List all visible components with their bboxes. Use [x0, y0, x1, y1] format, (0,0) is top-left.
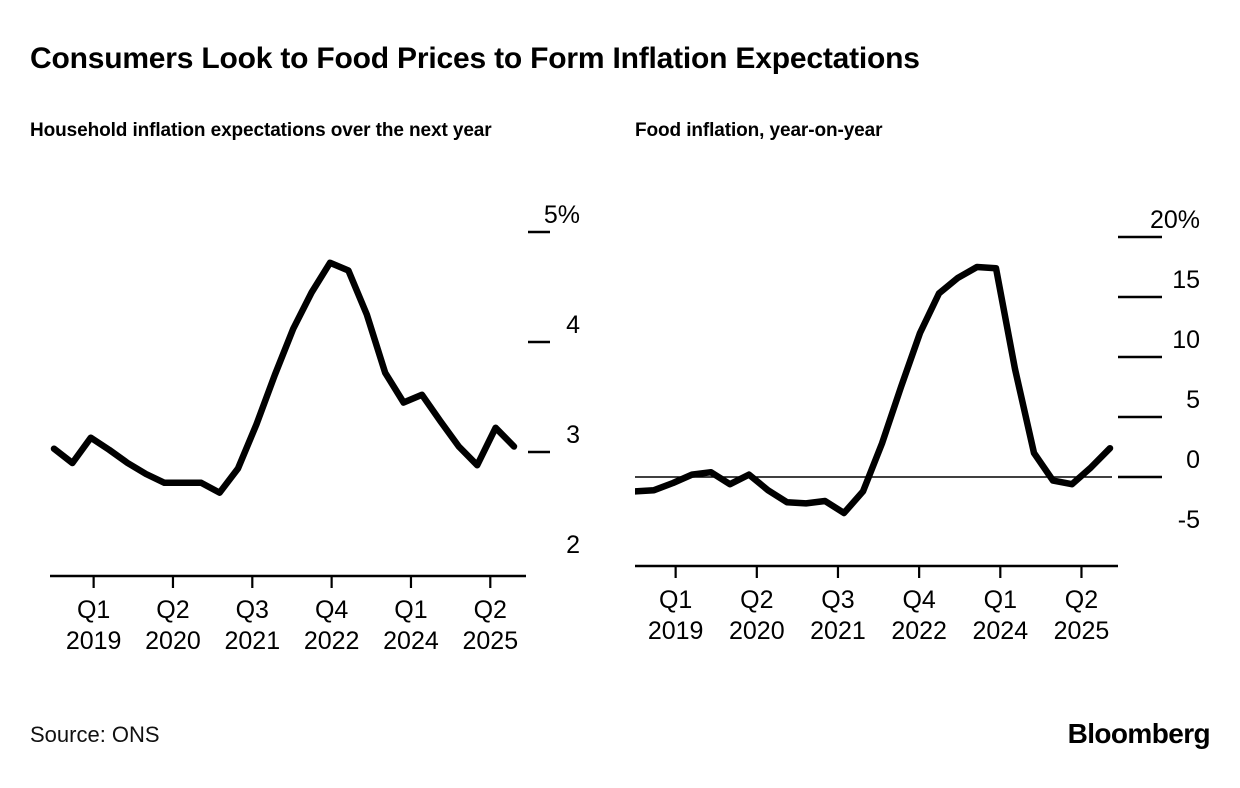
chart-svg: 2345%Q12019Q22020Q32021Q42022Q12024Q2202… [30, 118, 590, 678]
y-axis-label: 0 [1186, 446, 1200, 474]
x-axis-year-label: 2021 [224, 627, 280, 655]
x-axis-quarter-label: Q2 [740, 586, 773, 614]
x-tick-group: Q12024 [972, 566, 1028, 645]
chart-page: Consumers Look to Food Prices to Form In… [0, 0, 1240, 788]
x-axis-quarter-label: Q3 [821, 586, 854, 614]
chart-household-inflation-expectations: 2345%Q12019Q22020Q32021Q42022Q12024Q2202… [30, 118, 590, 678]
data-series-line [635, 267, 1110, 513]
x-tick-group: Q12019 [648, 566, 704, 645]
x-tick-group: Q22020 [729, 566, 785, 645]
x-axis-year-label: 2024 [972, 617, 1028, 645]
x-axis-quarter-label: Q2 [474, 596, 507, 624]
chart-svg: -505101520%Q12019Q22020Q32021Q42022Q1202… [635, 118, 1210, 678]
x-tick-group: Q32021 [810, 566, 866, 645]
y-tick-group: 3 [528, 421, 580, 452]
y-tick-group: 5 [1118, 386, 1200, 417]
x-axis-quarter-label: Q4 [315, 596, 348, 624]
data-series-line [54, 263, 514, 493]
x-tick-group: Q42022 [304, 576, 360, 655]
y-tick-group: 5% [528, 201, 580, 232]
y-tick-group: 4 [528, 311, 580, 342]
x-tick-group: Q32021 [224, 576, 280, 655]
x-axis-quarter-label: Q2 [156, 596, 189, 624]
panel-food-inflation: Food inflation, year-on-year -505101520%… [635, 118, 1210, 678]
x-tick-group: Q12024 [383, 576, 439, 655]
x-tick-group: Q22020 [145, 576, 201, 655]
bloomberg-logo: Bloomberg [1068, 718, 1210, 750]
y-tick-group: 20% [1118, 206, 1200, 237]
x-axis-year-label: 2019 [648, 617, 704, 645]
y-axis-label: 4 [566, 311, 580, 339]
x-tick-group: Q42022 [891, 566, 947, 645]
x-axis-quarter-label: Q1 [984, 586, 1017, 614]
x-axis-quarter-label: Q3 [236, 596, 269, 624]
page-title: Consumers Look to Food Prices to Form In… [30, 40, 1210, 78]
x-axis-quarter-label: Q1 [659, 586, 692, 614]
y-axis-label: 10 [1172, 326, 1200, 354]
x-tick-group: Q22025 [1054, 566, 1110, 645]
source-note: Source: ONS [30, 722, 160, 748]
y-axis-label: 15 [1172, 266, 1200, 294]
y-axis-label: 20% [1150, 206, 1200, 234]
y-tick-group: 10 [1118, 326, 1200, 357]
y-axis-label: 3 [566, 421, 580, 449]
x-axis-year-label: 2021 [810, 617, 866, 645]
x-axis-year-label: 2020 [145, 627, 201, 655]
y-tick-group: 15 [1118, 266, 1200, 297]
x-axis-quarter-label: Q2 [1065, 586, 1098, 614]
x-axis-year-label: 2025 [462, 627, 518, 655]
x-axis-quarter-label: Q1 [77, 596, 110, 624]
x-tick-group: Q22025 [462, 576, 518, 655]
x-axis-year-label: 2025 [1054, 617, 1110, 645]
y-axis-label: 5% [544, 201, 580, 229]
x-axis-year-label: 2022 [891, 617, 947, 645]
x-tick-group: Q12019 [66, 576, 122, 655]
y-tick-group: 0 [1118, 446, 1200, 477]
x-axis-year-label: 2022 [304, 627, 360, 655]
x-axis-quarter-label: Q4 [902, 586, 935, 614]
x-axis-year-label: 2024 [383, 627, 439, 655]
x-axis-quarter-label: Q1 [394, 596, 427, 624]
x-axis-year-label: 2019 [66, 627, 122, 655]
y-axis-label: 5 [1186, 386, 1200, 414]
y-tick-group: -5 [1178, 506, 1200, 534]
y-axis-label: 2 [566, 531, 580, 559]
chart-food-inflation: -505101520%Q12019Q22020Q32021Q42022Q1202… [635, 118, 1210, 678]
x-axis-year-label: 2020 [729, 617, 785, 645]
panel-household-inflation-expectations: Household inflation expectations over th… [30, 118, 590, 678]
y-tick-group: 2 [566, 531, 580, 559]
y-axis-label: -5 [1178, 506, 1200, 534]
